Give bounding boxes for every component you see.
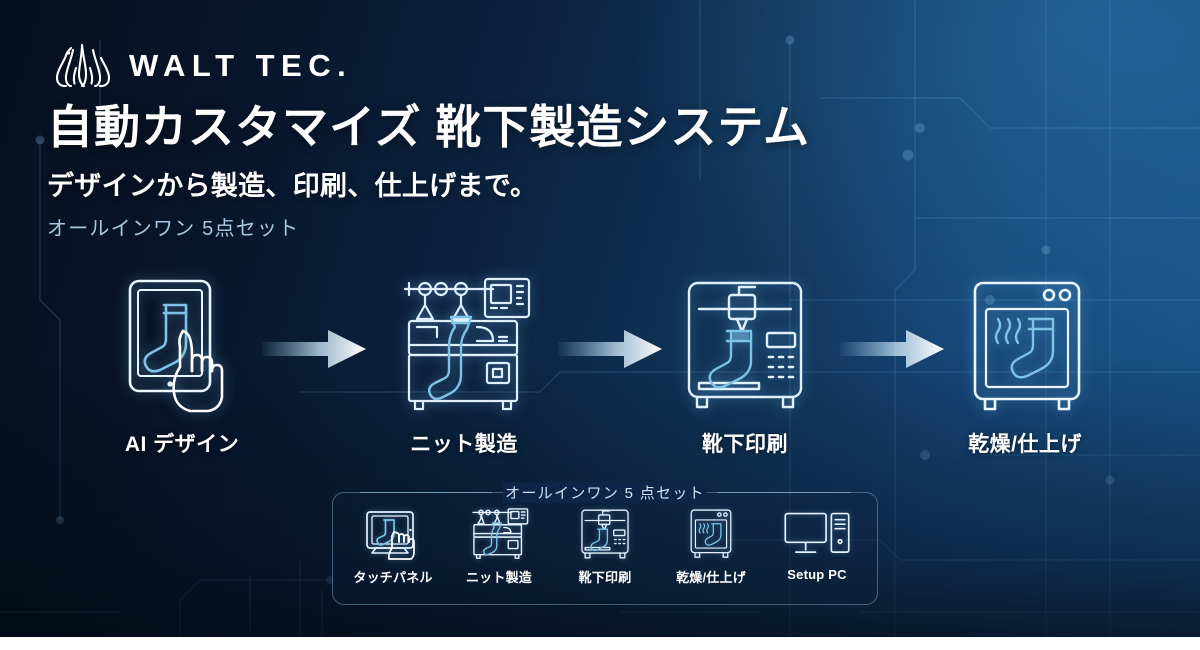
knitting-machine-icon xyxy=(449,504,549,564)
set-item-label: タッチパネル xyxy=(343,567,443,586)
set-item-label: ニット製造 xyxy=(449,567,549,586)
process-flow: AI デザイン xyxy=(0,266,1200,466)
knitting-machine-icon xyxy=(369,266,559,426)
set-item-label: Setup PC xyxy=(767,567,867,582)
tablet-touch-sock-icon xyxy=(87,266,277,426)
set-panel-items: タッチパネル xyxy=(332,504,878,602)
dryer-finishing-icon xyxy=(661,504,761,564)
page-subtitle: デザインから製造、印刷、仕上げまで。 xyxy=(47,170,537,202)
flow-step-printing[interactable]: 靴下印刷 xyxy=(650,266,840,458)
touch-panel-icon xyxy=(343,504,443,564)
hero-banner: WALT TEC. 自動カスタマイズ 靴下製造システム デザインから製造、印刷、… xyxy=(0,0,1200,637)
desktop-pc-icon xyxy=(767,504,867,564)
sock-printer-icon xyxy=(650,266,840,426)
set-item-label: 乾燥/仕上げ xyxy=(661,567,761,586)
flow-step-ai-design[interactable]: AI デザイン xyxy=(87,266,277,458)
flow-step-label: 靴下印刷 xyxy=(650,428,840,458)
set-item-label: 靴下印刷 xyxy=(555,567,655,586)
set-item-printing[interactable]: 靴下印刷 xyxy=(555,504,655,586)
brand-logo: WALT TEC. xyxy=(49,40,352,90)
brand-wordmark: WALT TEC. xyxy=(129,50,352,81)
sock-printer-icon xyxy=(555,504,655,564)
set-item-setup-pc[interactable]: Setup PC xyxy=(767,504,867,582)
flow-step-drying[interactable]: 乾燥/仕上げ xyxy=(930,266,1120,458)
arrow-right-icon xyxy=(262,326,372,372)
flow-step-knitting[interactable]: ニット製造 xyxy=(369,266,559,458)
set-item-touch-panel[interactable]: タッチパネル xyxy=(343,504,443,586)
flow-step-label: AI デザイン xyxy=(87,428,277,458)
walt-tec-plume-logo-icon xyxy=(49,40,115,90)
set-item-drying[interactable]: 乾燥/仕上げ xyxy=(661,504,761,586)
set-item-knitting[interactable]: ニット製造 xyxy=(449,504,549,586)
flow-step-label: ニット製造 xyxy=(369,428,559,458)
page-title: 自動カスタマイズ 靴下製造システム xyxy=(47,101,810,154)
flow-step-label: 乾燥/仕上げ xyxy=(930,428,1120,458)
dryer-finishing-icon xyxy=(930,266,1120,426)
page-tagline: オールインワン 5点セット xyxy=(47,217,299,241)
